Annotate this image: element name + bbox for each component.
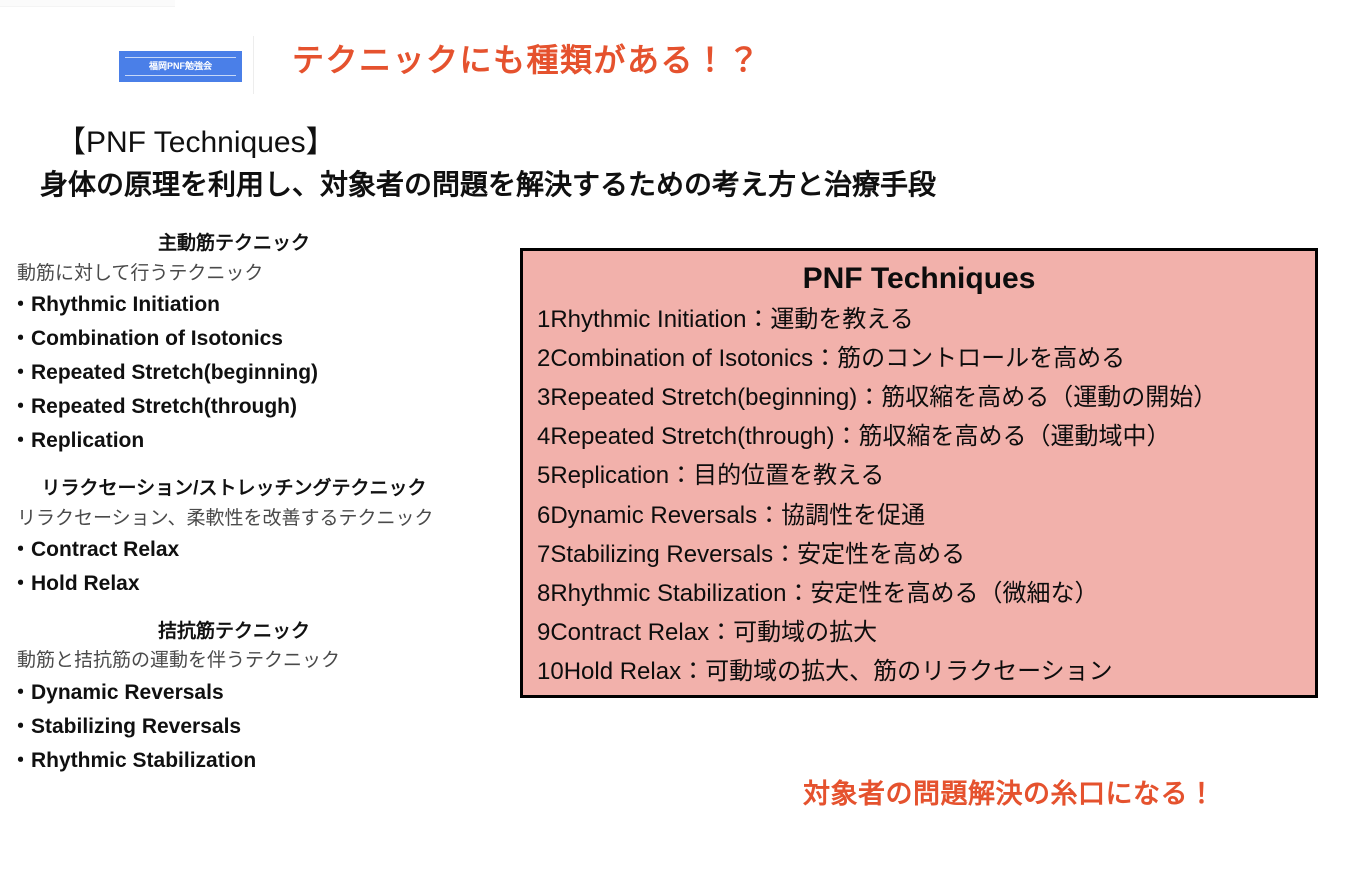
- list-item: 7Stabilizing Reversals：安定性を高める: [537, 535, 1301, 574]
- section-subtitle: 動筋と拮抗筋の運動を伴うテクニック: [0, 646, 500, 675]
- list-item: 4Repeated Stretch(through)：筋収縮を高める（運動域中）: [537, 417, 1301, 456]
- panel-technique-list: 1Rhythmic Initiation：運動を教える 2Combination…: [537, 300, 1301, 691]
- section-item-list: ・Dynamic Reversals ・Stabilizing Reversal…: [0, 676, 500, 778]
- footer-callout: 対象者の問題解決の糸口になる！: [803, 772, 1216, 811]
- slide-header-title: テクニックにも種類がある！？: [292, 35, 761, 81]
- list-item: ・Hold Relax: [10, 567, 500, 601]
- panel-title: PNF Techniques: [537, 259, 1301, 298]
- logo-label: 福岡PNF勉強会: [149, 62, 212, 71]
- header-divider: [253, 36, 254, 94]
- list-item: ・Rhythmic Initiation: [10, 288, 500, 322]
- section-item-list: ・Contract Relax ・Hold Relax: [0, 533, 500, 601]
- list-item: 8Rhythmic Stabilization：安定性を高める（微細な）: [537, 574, 1301, 613]
- section-subtitle: リラクセーション、柔軟性を改善するテクニック: [0, 504, 500, 533]
- list-item: 1Rhythmic Initiation：運動を教える: [537, 300, 1301, 339]
- left-column: 主動筋テクニック 動筋に対して行うテクニック ・Rhythmic Initiat…: [0, 230, 500, 795]
- list-item: 2Combination of Isotonics：筋のコントロールを高める: [537, 339, 1301, 378]
- list-item: 10Hold Relax：可動域の拡大、筋のリラクセーション: [537, 652, 1301, 691]
- heading-subtitle: 身体の原理を利用し、対象者の問題を解決するための考え方と治療手段: [40, 163, 936, 203]
- pnf-techniques-panel: PNF Techniques 1Rhythmic Initiation：運動を教…: [520, 248, 1318, 698]
- list-item: 5Replication：目的位置を教える: [537, 456, 1301, 495]
- section-title: 主動筋テクニック: [0, 230, 500, 259]
- slide-canvas: 福岡PNF勉強会 テクニックにも種類がある！？ 【PNF Techniques】…: [0, 0, 1350, 876]
- section-item-list: ・Rhythmic Initiation ・Combination of Iso…: [0, 288, 500, 458]
- logo-inner-frame: 福岡PNF勉強会: [125, 57, 236, 76]
- section-relaxation-stretching: リラクセーション/ストレッチングテクニック リラクセーション、柔軟性を改善するテ…: [0, 475, 500, 601]
- list-item: ・Replication: [10, 424, 500, 458]
- list-item: ・Repeated Stretch(through): [10, 390, 500, 424]
- list-item: ・Stabilizing Reversals: [10, 710, 500, 744]
- list-item: 9Contract Relax：可動域の拡大: [537, 613, 1301, 652]
- section-title: リラクセーション/ストレッチングテクニック: [0, 475, 500, 504]
- list-item: ・Dynamic Reversals: [10, 676, 500, 710]
- list-item: 3Repeated Stretch(beginning)：筋収縮を高める（運動の…: [537, 378, 1301, 417]
- list-item: ・Rhythmic Stabilization: [10, 744, 500, 778]
- section-subtitle: 動筋に対して行うテクニック: [0, 259, 500, 288]
- top-decorative-bar: [0, 0, 175, 7]
- section-agonist: 主動筋テクニック 動筋に対して行うテクニック ・Rhythmic Initiat…: [0, 230, 500, 458]
- organization-logo: 福岡PNF勉強会: [119, 51, 242, 82]
- list-item: ・Combination of Isotonics: [10, 322, 500, 356]
- list-item: ・Contract Relax: [10, 533, 500, 567]
- list-item: ・Repeated Stretch(beginning): [10, 356, 500, 390]
- list-item: 6Dynamic Reversals：協調性を促通: [537, 496, 1301, 535]
- heading-pnf-techniques: 【PNF Techniques】: [56, 117, 336, 161]
- section-title: 拮抗筋テクニック: [0, 618, 500, 647]
- section-antagonist: 拮抗筋テクニック 動筋と拮抗筋の運動を伴うテクニック ・Dynamic Reve…: [0, 618, 500, 778]
